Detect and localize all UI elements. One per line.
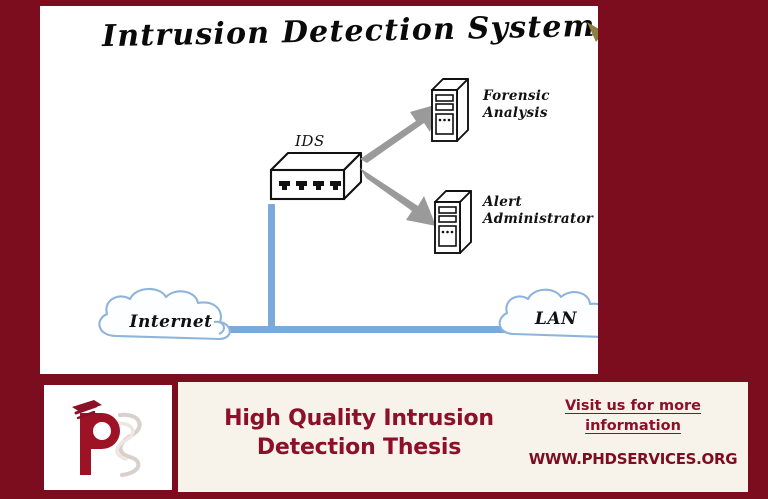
server-tower-icon	[433, 188, 473, 256]
phdservices-logo	[58, 393, 158, 483]
node-internet-label: Internet	[90, 312, 252, 332]
logo-p-with-cap-icon	[58, 393, 158, 483]
node-forensic-analysis	[430, 76, 470, 144]
page-title: Intrusion Detection System	[102, 9, 596, 54]
node-alert-administrator-label: Alert Administrator	[483, 194, 593, 228]
router-switch-icon	[268, 148, 364, 206]
cta-block[interactable]: Visit us for more information WWW.PHDSER…	[528, 396, 738, 468]
banner-headline: High Quality Intrusion Detection Thesis	[194, 404, 524, 462]
poster-frame: Intrusion Detection System Internet LAN …	[0, 0, 768, 499]
logo-panel	[44, 385, 172, 490]
cta-url[interactable]: WWW.PHDSERVICES.ORG	[528, 450, 738, 468]
node-ids	[268, 148, 364, 206]
node-alert-administrator	[433, 188, 473, 256]
banner-text-panel: High Quality Intrusion Detection Thesis …	[178, 382, 748, 492]
whiteboard-canvas: Intrusion Detection System Internet LAN …	[40, 6, 598, 374]
cta-text[interactable]: Visit us for more information	[528, 396, 738, 436]
gold-pen-icon	[587, 22, 598, 164]
node-internet: Internet	[90, 284, 252, 346]
node-forensic-analysis-label: Forensic Analysis	[483, 88, 550, 122]
server-tower-icon	[430, 76, 470, 144]
network-bus-vertical	[268, 204, 275, 330]
hand-with-pen-icon	[582, 6, 598, 374]
hand-holding-pen-illustration	[582, 6, 598, 374]
